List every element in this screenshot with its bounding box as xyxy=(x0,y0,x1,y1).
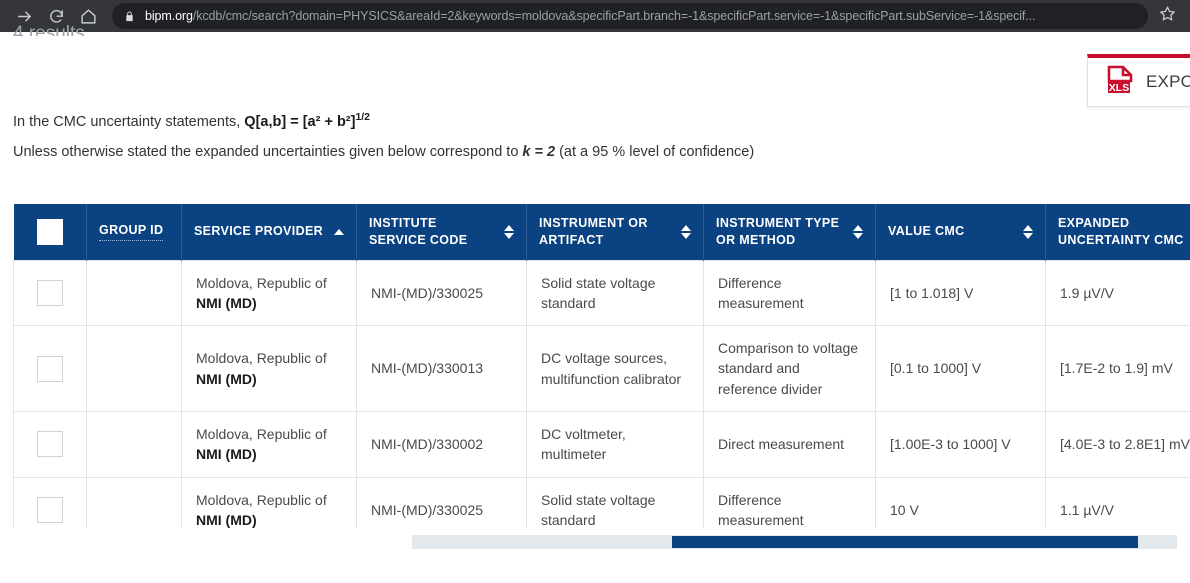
cell-instrument: Solid state voltage standard xyxy=(527,260,704,326)
cell-group-id xyxy=(87,477,182,528)
export-button[interactable]: XLS EXPOR xyxy=(1087,54,1190,107)
row-select-cell[interactable] xyxy=(14,477,87,528)
xls-file-icon: XLS xyxy=(1106,65,1134,100)
note2-k-value: k = 2 xyxy=(522,144,555,160)
cell-instrument-type: Direct measurement xyxy=(704,411,876,477)
cell-value-cmc: [1.00E-3 to 1000] V xyxy=(876,411,1046,477)
sort-toggle-icon[interactable] xyxy=(853,225,863,239)
cell-group-id xyxy=(87,326,182,412)
note1-prefix: In the CMC uncertainty statements, xyxy=(13,114,244,130)
cell-instrument: DC voltage sources, multifunction calibr… xyxy=(527,326,704,412)
provider-country: Moldova, Republic of xyxy=(196,273,342,293)
cell-service-provider: Moldova, Republic of NMI (MD) xyxy=(182,411,357,477)
cell-instrument-type: Comparison to voltage standard and refer… xyxy=(704,326,876,412)
table-body: Moldova, Republic of NMI (MD) NMI-(MD)/3… xyxy=(14,260,1190,528)
row-checkbox[interactable] xyxy=(37,356,63,382)
column-header-expanded-uncertainty-cmc[interactable]: EXPANDED UNCERTAINTY CMC xyxy=(1046,204,1190,260)
coverage-factor-note: Unless otherwise stated the expanded unc… xyxy=(13,144,754,160)
cell-value-cmc: [1 to 1.018] V xyxy=(876,260,1046,326)
row-checkbox[interactable] xyxy=(37,497,63,523)
lock-icon xyxy=(122,9,136,23)
table-row[interactable]: Moldova, Republic of NMI (MD) NMI-(MD)/3… xyxy=(14,411,1190,477)
cell-service-code: NMI-(MD)/330025 xyxy=(357,260,527,326)
home-icon xyxy=(80,8,97,25)
column-header-instrument-or-artifact[interactable]: INSTRUMENT OR ARTIFACT xyxy=(527,204,704,260)
column-label-expanded-uncertainty-cmc: EXPANDED UNCERTAINTY CMC xyxy=(1058,215,1190,249)
bookmark-button[interactable] xyxy=(1154,3,1180,29)
cell-service-provider: Moldova, Republic of NMI (MD) xyxy=(182,477,357,528)
cell-service-code: NMI-(MD)/330025 xyxy=(357,477,527,528)
sort-ascending-icon[interactable] xyxy=(334,229,344,235)
cmc-results-table: GROUP ID SERVICE PROVIDER INSTITUTE SERV… xyxy=(13,204,1190,528)
cell-service-provider: Moldova, Republic of NMI (MD) xyxy=(182,326,357,412)
cell-group-id xyxy=(87,260,182,326)
cell-group-id xyxy=(87,411,182,477)
provider-country: Moldova, Republic of xyxy=(196,348,342,368)
cell-service-code: NMI-(MD)/330002 xyxy=(357,411,527,477)
cell-instrument: DC voltmeter, multimeter xyxy=(527,411,704,477)
sort-toggle-icon[interactable] xyxy=(504,225,514,239)
column-label-value-cmc: VALUE CMC xyxy=(888,223,965,240)
table-row[interactable]: Moldova, Republic of NMI (MD) NMI-(MD)/3… xyxy=(14,477,1190,528)
url-path: /kcdb/cmc/search?domain=PHYSICS&areaId=2… xyxy=(193,9,1036,23)
column-header-select-all[interactable] xyxy=(14,204,87,260)
browser-toolbar: bipm.org/kcdb/cmc/search?domain=PHYSICS&… xyxy=(0,0,1190,32)
row-checkbox[interactable] xyxy=(37,431,63,457)
page-content: 4 results XLS EXPOR In the CMC uncertain… xyxy=(0,32,1190,583)
column-header-group-id[interactable]: GROUP ID xyxy=(87,204,182,260)
row-select-cell[interactable] xyxy=(14,411,87,477)
horizontal-scrollbar-track[interactable] xyxy=(412,535,1177,549)
sort-toggle-icon[interactable] xyxy=(1023,225,1033,239)
row-select-cell[interactable] xyxy=(14,260,87,326)
arrow-right-icon xyxy=(16,8,33,25)
cell-value-cmc: 10 V xyxy=(876,477,1046,528)
address-bar[interactable]: bipm.org/kcdb/cmc/search?domain=PHYSICS&… xyxy=(112,3,1148,29)
reload-icon xyxy=(48,8,65,25)
note2-suffix: (at a 95 % level of confidence) xyxy=(555,144,754,160)
provider-country: Moldova, Republic of xyxy=(196,424,342,444)
cmc-table-scroll-container[interactable]: GROUP ID SERVICE PROVIDER INSTITUTE SERV… xyxy=(13,204,1190,528)
cell-expanded-uncertainty: 1.9 µV/V xyxy=(1046,260,1190,326)
cell-instrument-type: Difference measurement xyxy=(704,477,876,528)
row-checkbox[interactable] xyxy=(37,280,63,306)
cell-expanded-uncertainty: [1.7E-2 to 1.9] mV xyxy=(1046,326,1190,412)
cell-service-code: NMI-(MD)/330013 xyxy=(357,326,527,412)
note1-formula: Q[a,b] = [a² + b²] xyxy=(244,114,355,130)
column-label-service-provider: SERVICE PROVIDER xyxy=(194,223,323,240)
column-label-instrument-type-or-method: INSTRUMENT TYPE OR METHOD xyxy=(716,215,845,249)
star-icon xyxy=(1159,5,1176,27)
select-all-checkbox[interactable] xyxy=(37,219,63,245)
results-count: 4 results xyxy=(13,24,85,36)
export-label: EXPOR xyxy=(1146,72,1190,92)
cell-expanded-uncertainty: [4.0E-3 to 2.8E1] mV xyxy=(1046,411,1190,477)
column-label-instrument-or-artifact: INSTRUMENT OR ARTIFACT xyxy=(539,215,673,249)
column-header-instrument-type-or-method[interactable]: INSTRUMENT TYPE OR METHOD xyxy=(704,204,876,260)
horizontal-scrollbar-thumb[interactable] xyxy=(672,536,1138,548)
sort-toggle-icon[interactable] xyxy=(681,225,691,239)
table-header: GROUP ID SERVICE PROVIDER INSTITUTE SERV… xyxy=(14,204,1190,260)
provider-institute: NMI (MD) xyxy=(196,444,342,464)
table-row[interactable]: Moldova, Republic of NMI (MD) NMI-(MD)/3… xyxy=(14,326,1190,412)
row-select-cell[interactable] xyxy=(14,326,87,412)
provider-institute: NMI (MD) xyxy=(196,293,342,313)
cell-instrument: Solid state voltage standard xyxy=(527,477,704,528)
column-label-institute-service-code: INSTITUTE SERVICE CODE xyxy=(369,215,496,249)
cell-value-cmc: [0.1 to 1000] V xyxy=(876,326,1046,412)
table-row[interactable]: Moldova, Republic of NMI (MD) NMI-(MD)/3… xyxy=(14,260,1190,326)
table-header-row: GROUP ID SERVICE PROVIDER INSTITUTE SERV… xyxy=(14,204,1190,260)
provider-country: Moldova, Republic of xyxy=(196,490,342,510)
column-header-institute-service-code[interactable]: INSTITUTE SERVICE CODE xyxy=(357,204,527,260)
cmc-uncertainty-note: In the CMC uncertainty statements, Q[a,b… xyxy=(13,112,370,130)
url-text: bipm.org/kcdb/cmc/search?domain=PHYSICS&… xyxy=(145,9,1035,23)
cell-instrument-type: Difference measurement xyxy=(704,260,876,326)
note2-prefix: Unless otherwise stated the expanded unc… xyxy=(13,144,522,160)
note1-exponent: 1/2 xyxy=(355,112,370,123)
provider-institute: NMI (MD) xyxy=(196,369,342,389)
svg-text:XLS: XLS xyxy=(1109,82,1129,94)
column-header-service-provider[interactable]: SERVICE PROVIDER xyxy=(182,204,357,260)
provider-institute: NMI (MD) xyxy=(196,510,342,528)
column-header-value-cmc[interactable]: VALUE CMC xyxy=(876,204,1046,260)
url-host: bipm.org xyxy=(145,9,193,23)
cell-service-provider: Moldova, Republic of NMI (MD) xyxy=(182,260,357,326)
cell-expanded-uncertainty: 1.1 µV/V xyxy=(1046,477,1190,528)
column-label-group-id: GROUP ID xyxy=(99,222,163,241)
